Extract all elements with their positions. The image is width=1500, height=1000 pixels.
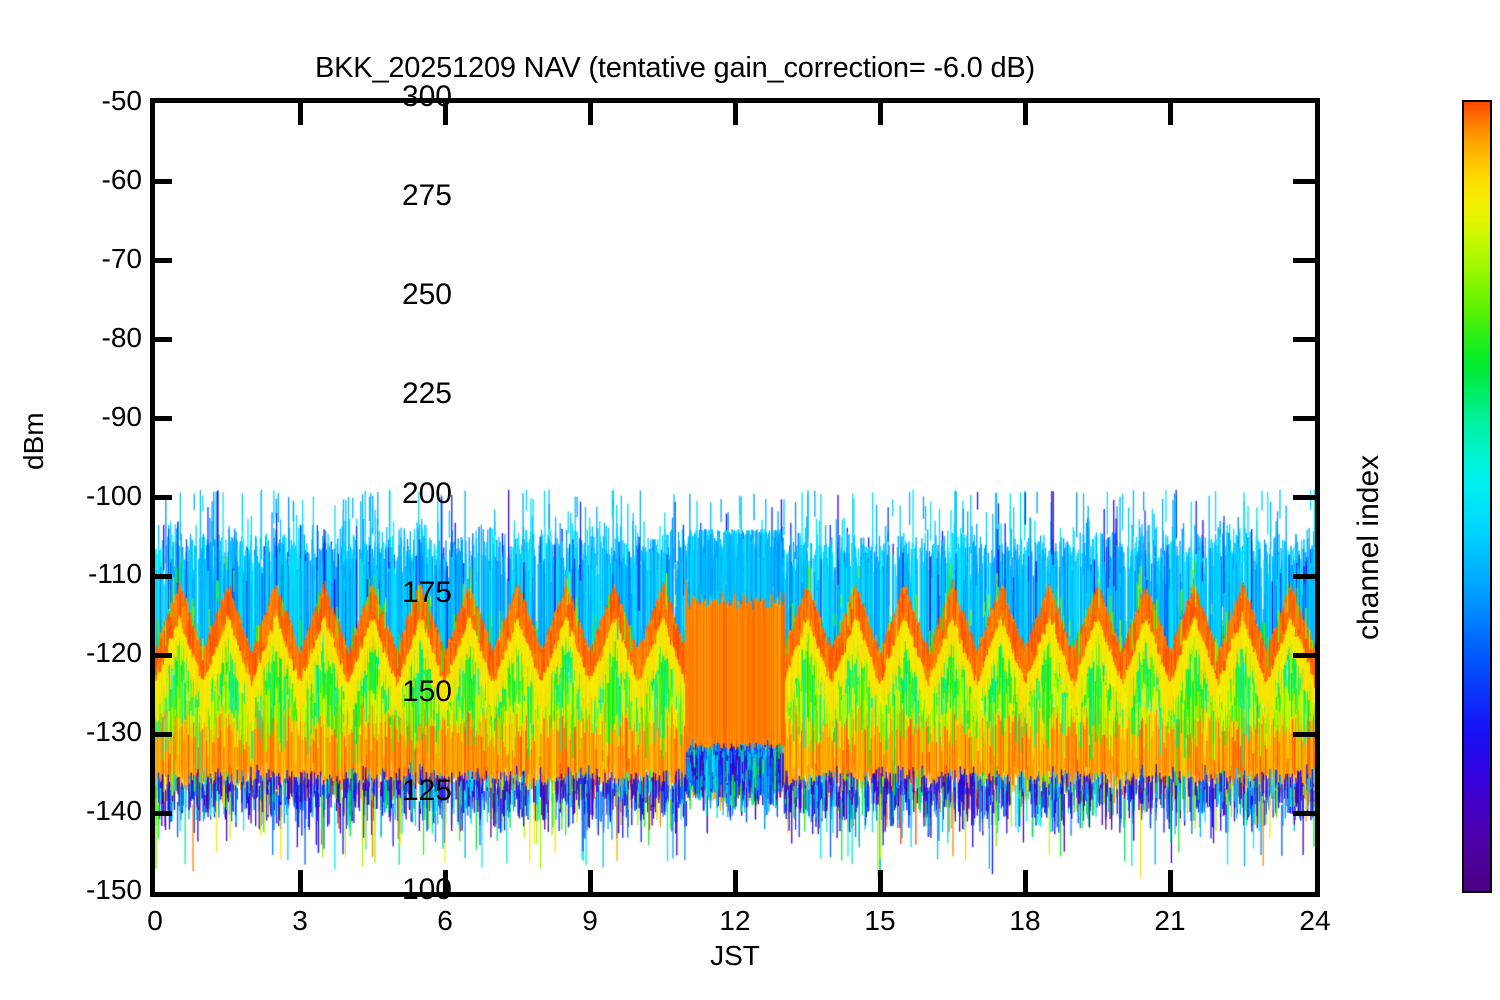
x-tick-top-15 — [878, 103, 883, 125]
colorbar — [1462, 100, 1492, 893]
y-tick--90 — [150, 416, 172, 421]
x-tick-top-3 — [298, 103, 303, 125]
colorbar-tick-label-300: 300 — [402, 80, 452, 114]
y-tick-right--120 — [1293, 653, 1315, 658]
x-tick-top-12 — [733, 103, 738, 125]
colorbar-tick-label-275: 275 — [402, 179, 452, 213]
x-tick-top-18 — [1023, 103, 1028, 125]
y-tick-right--80 — [1293, 337, 1315, 342]
x-tick-label-3: 3 — [292, 905, 308, 937]
x-axis-title: JST — [150, 940, 1320, 972]
x-tick-18 — [1023, 870, 1028, 892]
x-tick-label-21: 21 — [1154, 905, 1185, 937]
y-tick--60 — [150, 179, 172, 184]
y-tick--80 — [150, 337, 172, 342]
x-tick-top-9 — [588, 103, 593, 125]
colorbar-tick-label-175: 175 — [402, 576, 452, 610]
y-tick-right--90 — [1293, 416, 1315, 421]
y-axis-title: dBm — [18, 412, 50, 470]
x-tick-label-9: 9 — [582, 905, 598, 937]
y-tick-label--100: -100 — [86, 480, 142, 512]
y-tick-label--110: -110 — [88, 558, 142, 590]
y-tick--100 — [150, 495, 172, 500]
y-tick-label--80: -80 — [102, 322, 142, 354]
colorbar-gradient — [1464, 102, 1490, 891]
colorbar-tick-label-250: 250 — [402, 278, 452, 312]
colorbar-tick-label-150: 150 — [402, 675, 452, 709]
x-tick-21 — [1168, 870, 1173, 892]
y-tick--130 — [150, 732, 172, 737]
x-tick-9 — [588, 870, 593, 892]
colorbar-tick-label-125: 125 — [402, 774, 452, 808]
figure-root: BKK_20251209 NAV (tentative gain_correct… — [0, 0, 1500, 1000]
x-tick-label-6: 6 — [437, 905, 453, 937]
x-tick-15 — [878, 870, 883, 892]
y-tick-right--60 — [1293, 179, 1315, 184]
y-tick-right--70 — [1293, 258, 1315, 263]
x-tick-label-18: 18 — [1009, 905, 1040, 937]
y-tick-right--100 — [1293, 495, 1315, 500]
y-tick-label--130: -130 — [86, 716, 142, 748]
page-title: BKK_20251209 NAV (tentative gain_correct… — [0, 52, 1350, 85]
y-tick-right--130 — [1293, 732, 1315, 737]
x-tick-label-24: 24 — [1299, 905, 1330, 937]
colorbar-tick-label-100: 100 — [402, 873, 452, 907]
y-tick--140 — [150, 811, 172, 816]
x-tick-label-0: 0 — [147, 905, 163, 937]
y-tick-label--90: -90 — [102, 401, 142, 433]
y-tick-label--150: -150 — [86, 874, 142, 906]
y-tick-label--50: -50 — [102, 85, 142, 117]
colorbar-title: channel index — [1352, 455, 1386, 640]
y-tick--70 — [150, 258, 172, 263]
colorbar-tick-label-225: 225 — [402, 377, 452, 411]
y-tick--120 — [150, 653, 172, 658]
y-tick-right--140 — [1293, 811, 1315, 816]
x-tick-top-21 — [1168, 103, 1173, 125]
x-tick-3 — [298, 870, 303, 892]
y-tick-label--70: -70 — [102, 243, 142, 275]
y-tick--110 — [150, 574, 172, 579]
x-tick-label-12: 12 — [719, 905, 750, 937]
colorbar-tick-label-200: 200 — [402, 477, 452, 511]
y-tick-label--120: -120 — [86, 637, 142, 669]
spectrogram-canvas — [155, 103, 1315, 892]
y-tick-label--140: -140 — [86, 795, 142, 827]
y-tick-label--60: -60 — [102, 164, 142, 196]
x-tick-label-15: 15 — [864, 905, 895, 937]
y-tick-right--110 — [1293, 574, 1315, 579]
x-tick-12 — [733, 870, 738, 892]
